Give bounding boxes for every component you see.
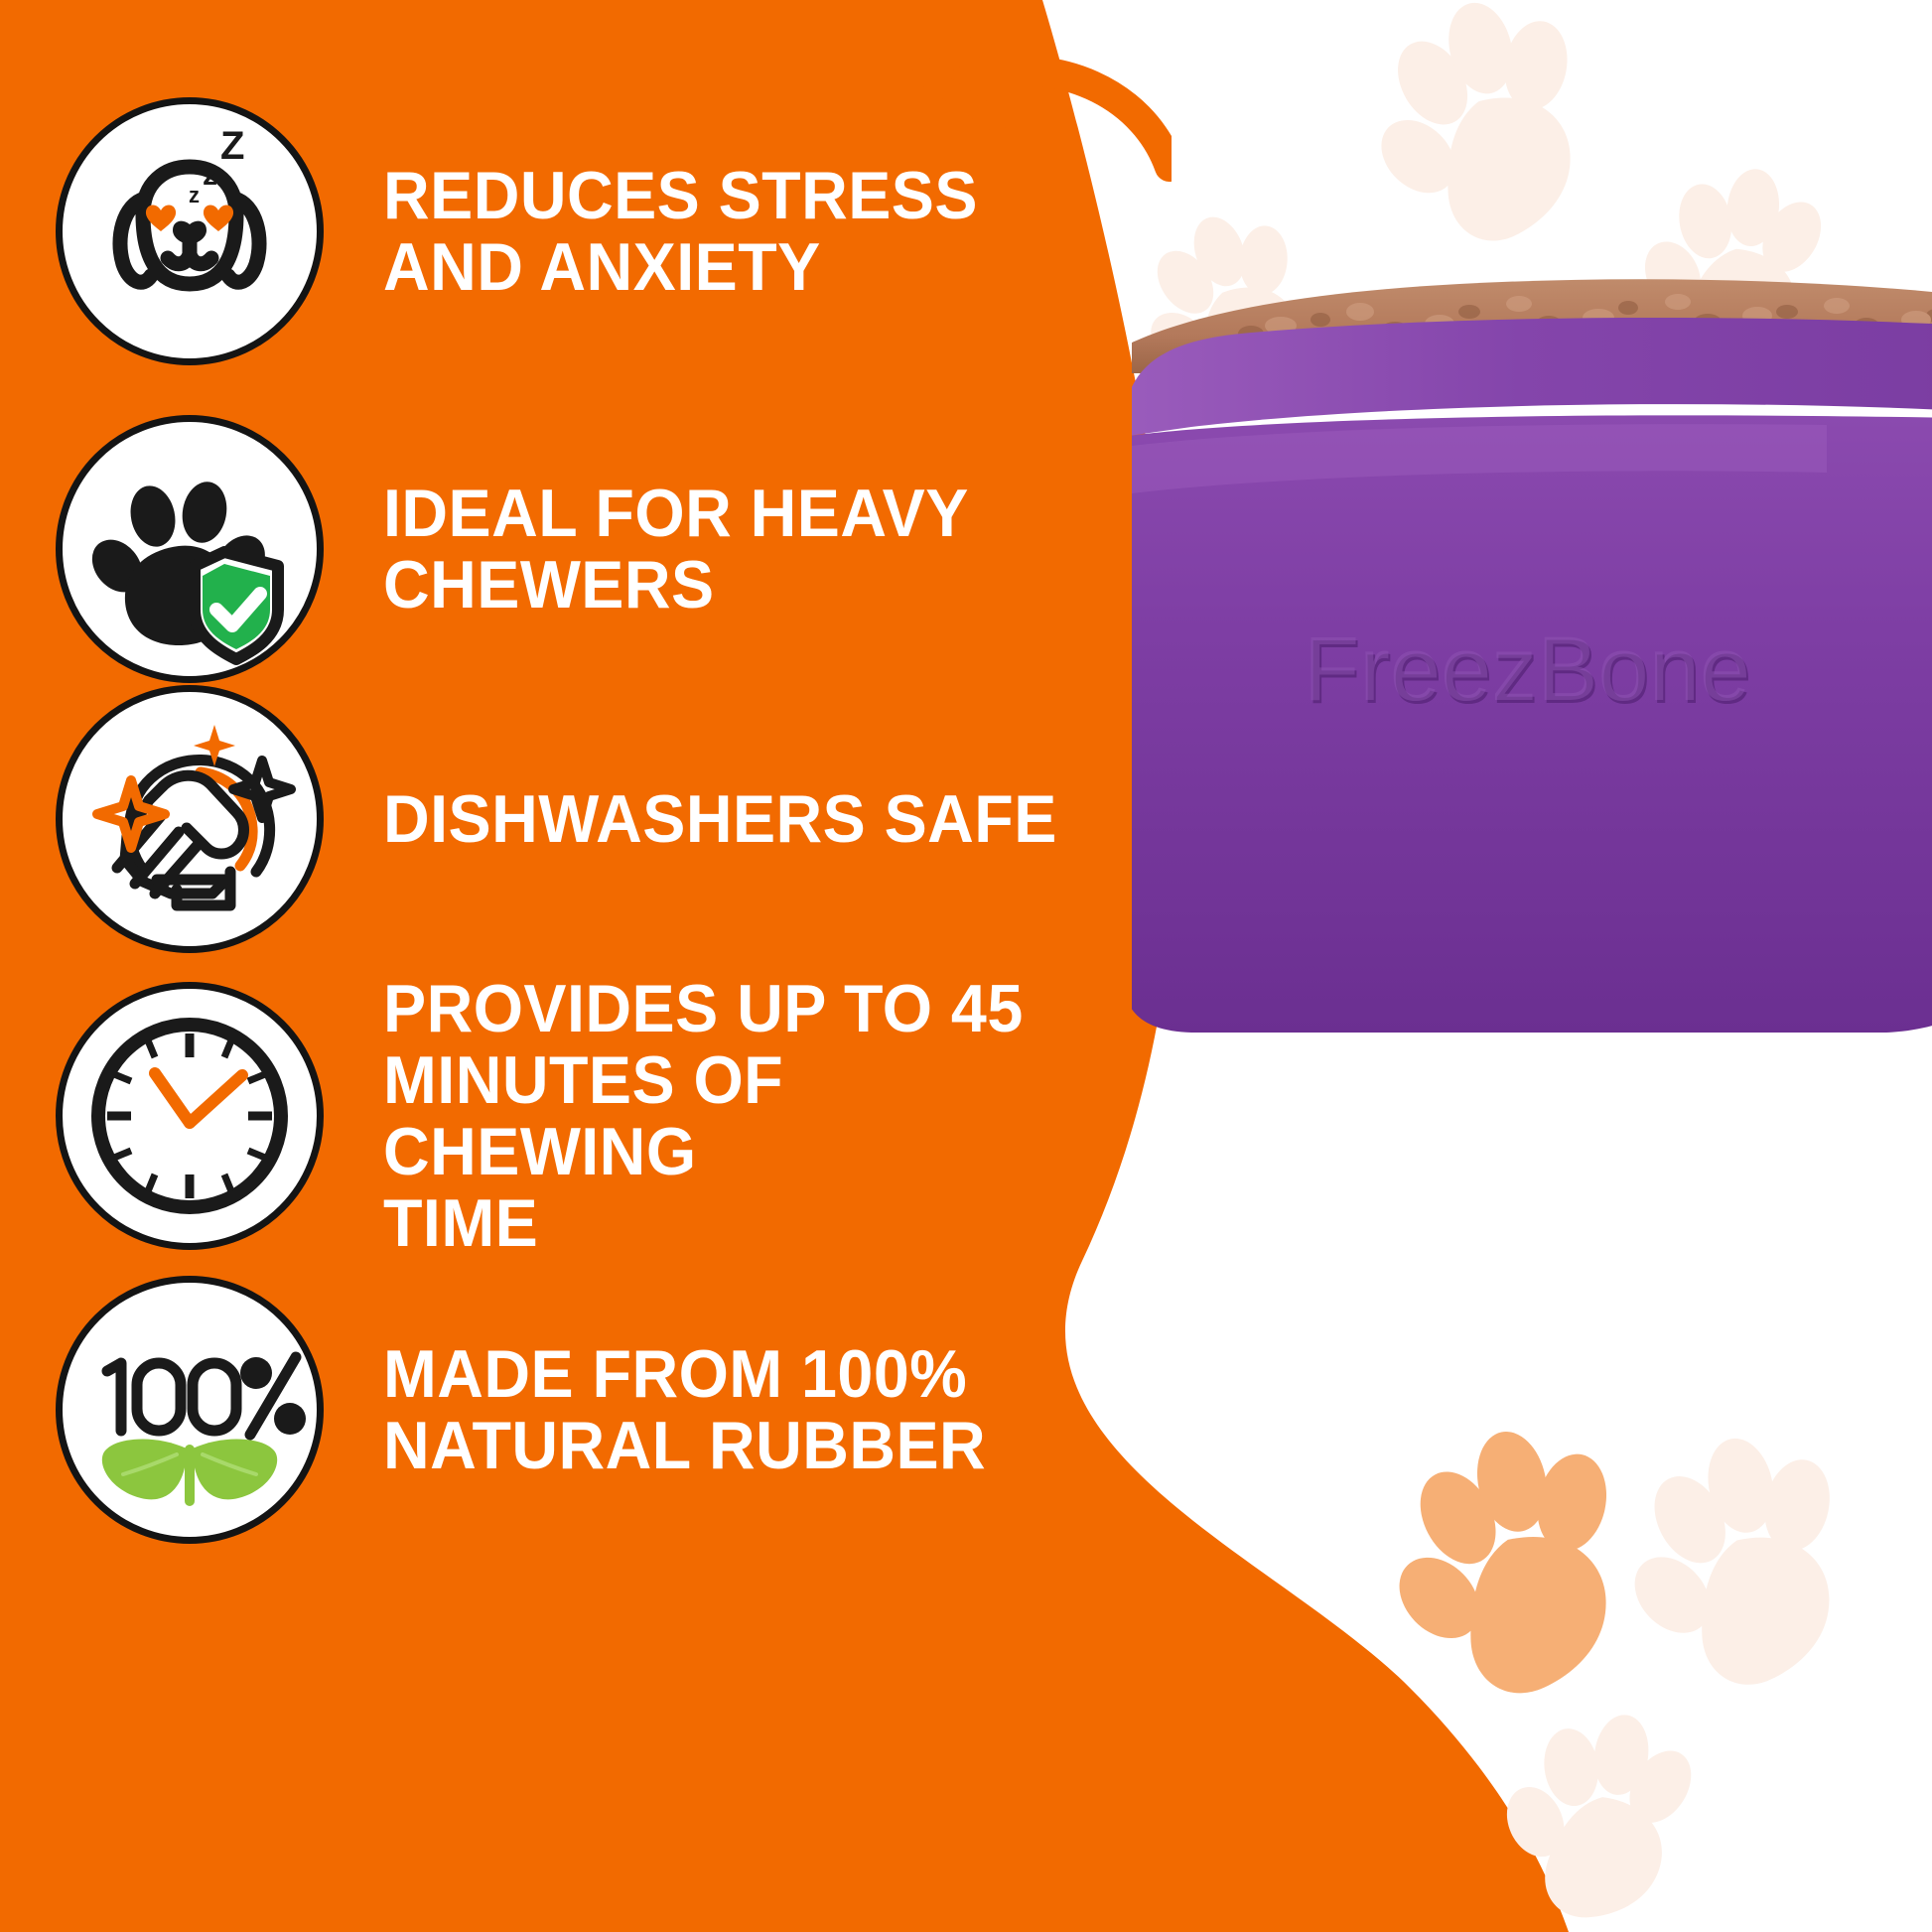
hand-polish-sparkle-icon [56,685,324,953]
hundred-percent-leaf-icon [56,1276,324,1544]
feature-row: MADE FROM 100% NATURAL RUBBER [56,1276,1018,1544]
infographic-canvas: FreezBone FreezBone [0,0,1932,1932]
clock-icon [56,982,324,1250]
freezbone-product-image: FreezBone FreezBone [1132,238,1932,1062]
feature-row: IDEAL FOR HEAVY CHEWERS [56,415,1000,683]
feature-label: PROVIDES UP TO 45 MINUTES OF CHEWING TIM… [383,973,1100,1259]
feature-row: DISHWASHERS SAFE [56,685,1093,953]
feature-label: DISHWASHERS SAFE [383,783,1057,855]
feature-label: IDEAL FOR HEAVY CHEWERS [383,478,969,621]
sleeping-dog-icon: Z z z [56,97,324,365]
paw-shield-icon [56,415,324,683]
feature-row: PROVIDES UP TO 45 MINUTES OF CHEWING TIM… [56,973,1138,1259]
svg-text:Z: Z [220,124,244,168]
feature-row: Z z z REDUCES STRESS AND ANXIETY [56,97,1009,365]
svg-text:z: z [203,159,217,192]
feature-label: REDUCES STRESS AND ANXIETY [383,160,978,303]
svg-text:z: z [189,183,200,207]
feature-label: MADE FROM 100% NATURAL RUBBER [383,1338,986,1481]
feature-list: Z z z REDUCES STRESS AND ANXIETY [0,0,1172,1932]
curved-left-arrow-icon [894,30,1172,218]
product-brand-emboss-highlight: FreezBone [1304,619,1750,720]
